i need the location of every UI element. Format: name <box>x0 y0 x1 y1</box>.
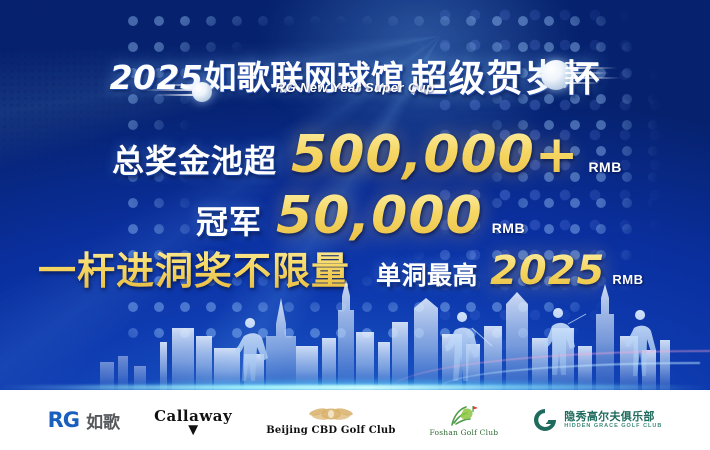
sponsor-logo-rg[interactable]: RG 如歌 <box>48 398 120 442</box>
golf-ball-icon-small <box>192 82 212 102</box>
promo-poster: 2025如歌联网球馆 超级贺岁杯 RG New Year Super Cup 总… <box>0 0 710 450</box>
cbd-name-en: Beijing CBD Golf Club <box>266 425 395 436</box>
champion-label: 冠军 <box>196 197 262 243</box>
prize-pool-row: 总奖金池超 500,000+ RMB <box>112 125 622 185</box>
foshan-name-en: Foshan Golf Club <box>430 428 499 437</box>
sponsor-logo-foshan[interactable]: Foshan Golf Club <box>430 398 499 442</box>
rg-wordmark: RG <box>48 408 79 432</box>
champion-prize-row: 冠军 50,000 RMB <box>196 186 525 246</box>
hidden-grace-text: 隐秀高尔夫俱乐部 HIDDEN GRACE GOLF CLUB <box>564 411 662 430</box>
cbd-fan-icon <box>304 405 358 423</box>
golf-ball-icon-large <box>541 60 571 90</box>
hidden-grace-name-en: HIDDEN GRACE GOLF CLUB <box>564 423 662 429</box>
title-subtitle-en: RG New Year Super Cup <box>230 80 480 95</box>
sponsor-logo-hidden-grace[interactable]: 隐秀高尔夫俱乐部 HIDDEN GRACE GOLF CLUB <box>532 398 662 442</box>
champion-currency: RMB <box>492 220 525 236</box>
rg-name-cn: 如歌 <box>86 408 120 433</box>
champion-amount: 50,000 <box>276 186 483 246</box>
hidden-grace-g-icon <box>532 407 558 433</box>
prize-pool-currency: RMB <box>588 159 621 175</box>
chevron-down-icon: ▼ <box>185 425 202 434</box>
prize-pool-amount: 500,000+ <box>291 125 579 185</box>
foshan-leaf-icon <box>444 403 484 427</box>
hidden-grace-name-cn: 隐秀高尔夫俱乐部 <box>564 411 662 424</box>
sponsor-logo-beijing-cbd[interactable]: Beijing CBD Golf Club <box>266 398 395 442</box>
prize-pool-label: 总奖金池超 <box>112 136 277 182</box>
sponsor-logo-callaway[interactable]: Callaway ▼ <box>154 398 232 442</box>
title-year: 2025 <box>110 58 204 97</box>
sponsor-bar: RG 如歌 Callaway ▼ Beijing CBD Golf Club <box>0 390 710 450</box>
